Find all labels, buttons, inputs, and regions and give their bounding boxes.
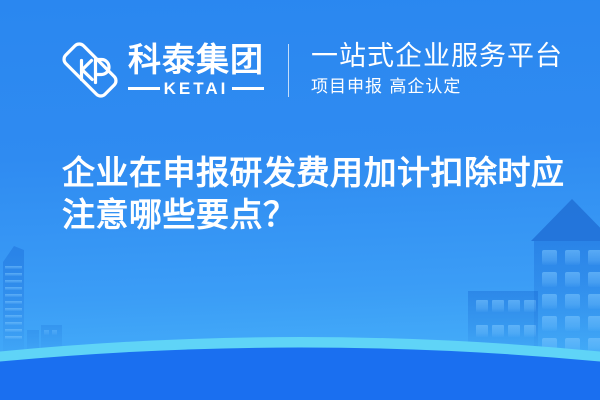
brand-logo: 科泰集团 KETAI [62,42,264,98]
banner: 科泰集团 KETAI 一站式企业服务平台 项目申报 高企认定 企业在申报研发费用… [0,0,600,400]
wordmark-rule-right [232,87,264,90]
low-rise-building [468,291,538,352]
tagline-block: 一站式企业服务平台 项目申报 高企认定 [311,41,563,99]
brand-name-en: KETAI [164,80,229,97]
curved-ground-band [0,337,600,400]
ketai-kp-diamond-logo-icon [62,42,118,98]
tagline-sub: 项目申报 高企认定 [311,75,563,99]
wordmark-rule-left [128,87,160,90]
brand-name-en-row: KETAI [128,80,264,97]
tagline-main: 一站式企业服务平台 [311,41,563,73]
header-divider [288,44,289,97]
tall-tower-left [3,246,24,352]
banner-header: 科泰集团 KETAI 一站式企业服务平台 项目申报 高企认定 [0,0,600,140]
page-title: 企业在申报研发费用加计扣除时应 注意哪些要点？ [62,152,562,236]
page-title-line-2: 注意哪些要点？ [62,194,562,236]
brand-wordmark: 科泰集团 KETAI [128,43,264,97]
low-rise-cluster-left [27,325,62,352]
brand-name-cn: 科泰集团 [128,43,264,77]
page-title-line-1: 企业在申报研发费用加计扣除时应 [62,152,562,194]
